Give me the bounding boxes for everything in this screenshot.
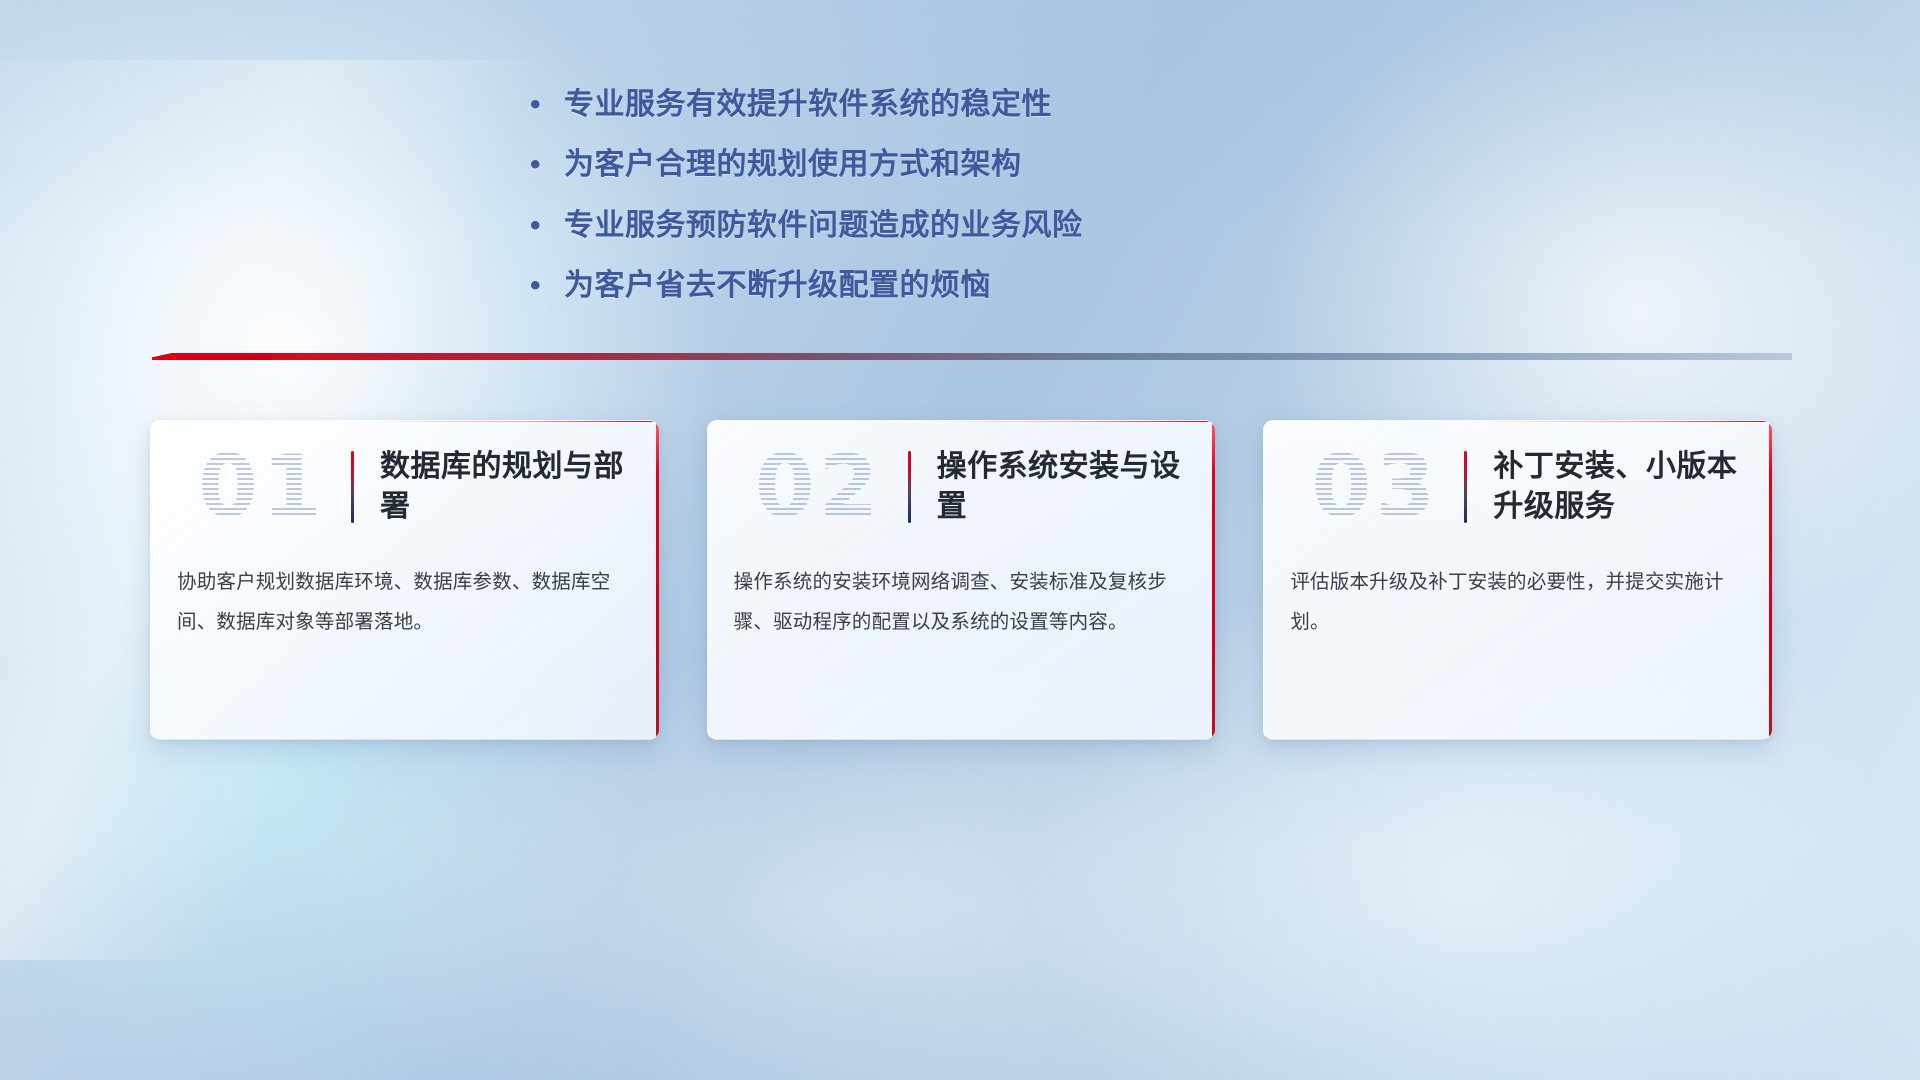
list-item: • 为客户合理的规划使用方式和架构: [530, 146, 1430, 184]
list-item: • 专业服务预防软件问题造成的业务风险: [530, 207, 1430, 245]
card-title: 操作系统安装与设置: [937, 447, 1216, 527]
benefits-bullet-list: • 专业服务有效提升软件系统的稳定性 • 为客户合理的规划使用方式和架构 • 专…: [530, 86, 1430, 328]
card-divider-bar: [1464, 451, 1467, 523]
service-card-03[interactable]: 03 补丁安装、小版本升级服务 评估版本升级及补丁安装的必要性，并提交实施计划。: [1263, 420, 1772, 740]
service-card-row: 01 数据库的规划与部署 协助客户规划数据库环境、数据库参数、数据库空间、数据库…: [150, 420, 1772, 740]
bullet-text: 为客户省去不断升级配置的烦恼: [564, 267, 1430, 305]
list-item: • 为客户省去不断升级配置的烦恼: [530, 267, 1430, 305]
section-divider: [152, 348, 1792, 366]
bullet-dot-icon: •: [530, 86, 564, 124]
divider-line: [152, 353, 1792, 360]
card-title: 补丁安装、小版本升级服务: [1493, 447, 1772, 527]
list-item: • 专业服务有效提升软件系统的稳定性: [530, 86, 1430, 124]
card-header: 03 补丁安装、小版本升级服务: [1264, 421, 1772, 553]
card-header: 02 操作系统安装与设置: [708, 421, 1216, 553]
card-divider-bar: [351, 451, 354, 523]
slide-canvas: • 专业服务有效提升软件系统的稳定性 • 为客户合理的规划使用方式和架构 • 专…: [0, 0, 1920, 1080]
card-number-watermark: 02: [734, 444, 904, 530]
card-body-text: 评估版本升级及补丁安装的必要性，并提交实施计划。: [1264, 553, 1772, 671]
bullet-text: 为客户合理的规划使用方式和架构: [564, 146, 1430, 184]
bullet-text: 专业服务有效提升软件系统的稳定性: [564, 86, 1430, 124]
card-body-text: 协助客户规划数据库环境、数据库参数、数据库空间、数据库对象等部署落地。: [151, 553, 659, 671]
bullet-dot-icon: •: [530, 267, 564, 305]
card-number-watermark: 01: [177, 444, 347, 530]
card-divider-bar: [908, 451, 911, 523]
card-body-text: 操作系统的安装环境网络调查、安装标准及复核步骤、驱动程序的配置以及系统的设置等内…: [708, 553, 1216, 671]
service-card-02[interactable]: 02 操作系统安装与设置 操作系统的安装环境网络调查、安装标准及复核步骤、驱动程…: [707, 420, 1216, 740]
card-title: 数据库的规划与部署: [380, 447, 659, 527]
bullet-dot-icon: •: [530, 207, 564, 245]
card-number-watermark: 03: [1290, 444, 1460, 530]
service-card-01[interactable]: 01 数据库的规划与部署 协助客户规划数据库环境、数据库参数、数据库空间、数据库…: [150, 420, 659, 740]
bullet-text: 专业服务预防软件问题造成的业务风险: [564, 207, 1430, 245]
bullet-dot-icon: •: [530, 146, 564, 184]
card-header: 01 数据库的规划与部署: [151, 421, 659, 553]
